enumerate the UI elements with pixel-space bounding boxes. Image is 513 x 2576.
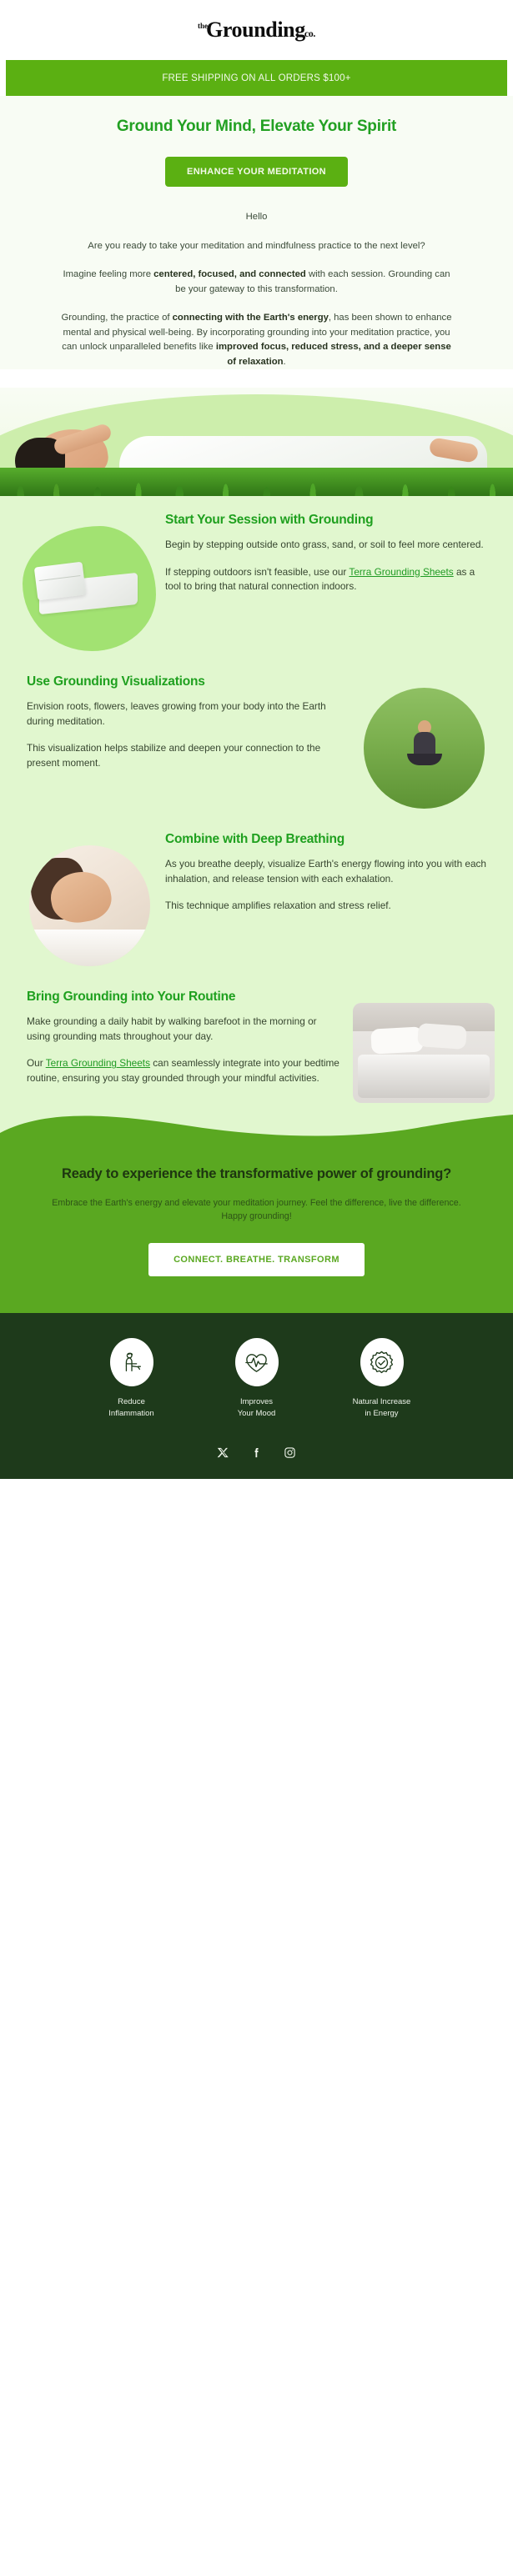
- wave-shape: [0, 1115, 513, 1153]
- instagram-icon[interactable]: [281, 1444, 299, 1462]
- hero-headline: Ground Your Mind, Elevate Your Spirit: [0, 118, 513, 136]
- section-grounding-routine: Bring Grounding into Your Routine Make g…: [0, 973, 513, 1110]
- announcement-bar: FREE SHIPPING ON ALL ORDERS $100+: [6, 60, 507, 96]
- section-4-p2-pre: Our: [27, 1057, 46, 1069]
- closing-cta-section: Ready to experience the transformative p…: [0, 1153, 513, 1313]
- hero-section: Ground Your Mind, Elevate Your Spirit EN…: [0, 96, 513, 369]
- benefit-2-label: Improves Your Mood: [212, 1396, 302, 1421]
- benefit-3-line-1: Natural Increase: [337, 1396, 427, 1408]
- benefit-3-label: Natural Increase in Energy: [337, 1396, 427, 1421]
- brand-logo[interactable]: theGroundingco.: [198, 18, 315, 43]
- terra-grounding-sheets-link-2[interactable]: Terra Grounding Sheets: [46, 1057, 150, 1069]
- section-2-image: [353, 674, 495, 809]
- section-start-your-session: Start Your Session with Grounding Begin …: [0, 496, 513, 658]
- benefit-1-line-2: Inflammation: [87, 1408, 177, 1420]
- section-grounding-visualizations: Use Grounding Visualizations Envision ro…: [0, 658, 513, 815]
- section-2-paragraph-2: This visualization helps stabilize and d…: [27, 741, 341, 771]
- badge-check-icon: [360, 1338, 404, 1386]
- para3-pre: Grounding, the practice of: [62, 313, 173, 323]
- footer: Reduce Inflammation Improves Your Mood: [0, 1313, 513, 1479]
- hero-copy: Hello Are you ready to take your meditat…: [0, 187, 513, 369]
- grounding-sheets-photo: [23, 526, 156, 651]
- hero-paragraph-3: Grounding, the practice of connecting wi…: [60, 311, 453, 369]
- section-1-image: [18, 513, 160, 651]
- hero-paragraph-1: Are you ready to take your meditation an…: [60, 239, 453, 254]
- section-4-paragraph-1: Make grounding a daily habit by walking …: [27, 1015, 341, 1045]
- logo-co-text: co.: [304, 28, 315, 40]
- logo-the-text: the: [198, 23, 208, 30]
- para3-bold-1: connecting with the Earth's energy: [173, 313, 329, 323]
- section-3-paragraph-1: As you breathe deeply, visualize Earth's…: [165, 857, 490, 887]
- closing-heading: Ready to experience the transformative p…: [33, 1165, 480, 1183]
- section-4-paragraph-2: Our Terra Grounding Sheets can seamlessl…: [27, 1056, 341, 1086]
- tips-sections: Start Your Session with Grounding Begin …: [0, 496, 513, 1115]
- benefit-1-label: Reduce Inflammation: [87, 1396, 177, 1421]
- hero-photo-grass: [0, 468, 513, 496]
- enhance-your-meditation-button[interactable]: ENHANCE YOUR MEDITATION: [165, 157, 348, 187]
- section-2-text: Use Grounding Visualizations Envision ro…: [18, 674, 353, 771]
- bed-with-sheets-photo: [353, 1003, 495, 1103]
- benefit-1-line-1: Reduce: [87, 1396, 177, 1408]
- benefit-improves-your-mood: Improves Your Mood: [212, 1338, 302, 1421]
- section-3-paragraph-2: This technique amplifies relaxation and …: [165, 899, 490, 914]
- wave-divider: [0, 1115, 513, 1153]
- relaxing-cloth: [29, 930, 150, 966]
- meditating-legs: [407, 754, 442, 765]
- terra-grounding-sheets-link[interactable]: Terra Grounding Sheets: [349, 566, 453, 578]
- benefits-row: Reduce Inflammation Improves Your Mood: [17, 1338, 496, 1421]
- para2-bold: centered, focused, and connected: [153, 269, 306, 279]
- section-3-image: [18, 832, 160, 966]
- logo-main-text: Grounding: [206, 18, 305, 43]
- section-2-heading: Use Grounding Visualizations: [27, 674, 341, 690]
- sheet-fold: [34, 562, 86, 601]
- para2-pre: Imagine feeling more: [63, 269, 153, 279]
- para3-post: .: [284, 357, 286, 367]
- bed-pillow-right: [417, 1023, 467, 1050]
- section-4-heading: Bring Grounding into Your Routine: [27, 990, 341, 1005]
- folded-sheets-graphic: [34, 563, 141, 614]
- benefit-2-line-2: Your Mood: [212, 1408, 302, 1420]
- connect-breathe-transform-button[interactable]: CONNECT. BREATHE. TRANSFORM: [148, 1243, 365, 1276]
- section-4-image: [353, 990, 495, 1103]
- benefit-natural-increase-in-energy: Natural Increase in Energy: [337, 1338, 427, 1421]
- section-1-heading: Start Your Session with Grounding: [165, 513, 490, 529]
- benefit-3-line-2: in Energy: [337, 1408, 427, 1420]
- section-3-heading: Combine with Deep Breathing: [165, 832, 490, 848]
- section-1-p2-pre: If stepping outdoors isn't feasible, use…: [165, 566, 349, 578]
- x-twitter-icon[interactable]: [214, 1444, 233, 1462]
- section-4-text: Bring Grounding into Your Routine Make g…: [18, 990, 353, 1086]
- hero-cta-wrapper: ENHANCE YOUR MEDITATION: [0, 136, 513, 187]
- hero-paragraph-2: Imagine feeling more centered, focused, …: [60, 268, 453, 297]
- social-links: [17, 1444, 496, 1462]
- meditating-figure: [405, 720, 442, 767]
- meditating-woman-photo: [364, 688, 485, 809]
- para3-bold-2: improved focus, reduced stress, and a de…: [216, 342, 451, 367]
- heart-pulse-icon: [235, 1338, 279, 1386]
- section-3-text: Combine with Deep Breathing As you breat…: [160, 832, 495, 914]
- closing-subtext: Embrace the Earth's energy and elevate y…: [33, 1196, 480, 1223]
- section-1-paragraph-1: Begin by stepping outside onto grass, sa…: [165, 538, 490, 553]
- benefit-2-line-1: Improves: [212, 1396, 302, 1408]
- section-deep-breathing: Combine with Deep Breathing As you breat…: [0, 815, 513, 973]
- hero-image: [0, 388, 513, 496]
- bed-pillow-left: [370, 1026, 423, 1054]
- section-1-text: Start Your Session with Grounding Begin …: [160, 513, 495, 594]
- email-body: theGroundingco. FREE SHIPPING ON ALL ORD…: [0, 0, 513, 1479]
- section-2-paragraph-1: Envision roots, flowers, leaves growing …: [27, 699, 341, 729]
- relaxing-woman-photo: [29, 845, 150, 966]
- facebook-icon[interactable]: [248, 1444, 266, 1462]
- hero-photo-woman-in-grass: [0, 388, 513, 496]
- greeting-text: Hello: [60, 187, 453, 225]
- brand-header: theGroundingco.: [0, 0, 513, 60]
- benefit-reduce-inflammation: Reduce Inflammation: [87, 1338, 177, 1421]
- bed-mattress: [358, 1055, 490, 1098]
- section-1-paragraph-2: If stepping outdoors isn't feasible, use…: [165, 565, 490, 595]
- person-sitting-relaxed-icon: [110, 1338, 153, 1386]
